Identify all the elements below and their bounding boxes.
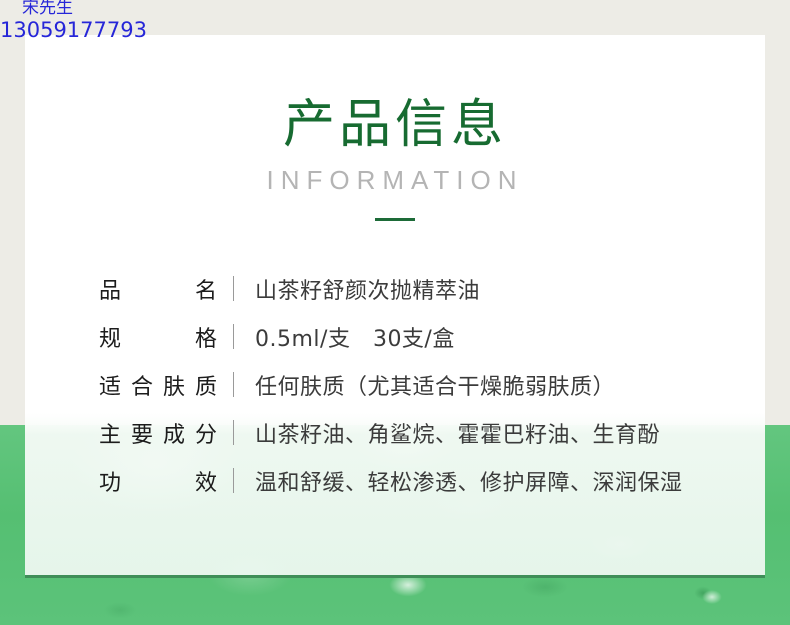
label-char: 效	[195, 465, 217, 497]
label-char: 格	[195, 321, 217, 353]
label-value-separator	[233, 276, 234, 301]
label-char: 功	[99, 465, 121, 497]
label-char: 要	[131, 417, 153, 449]
info-value: 0.5ml/支 30支/盒	[255, 321, 455, 353]
label-char: 品	[99, 273, 121, 305]
info-value: 山茶籽舒颜次抛精萃油	[255, 273, 480, 305]
watermark-name: 宋先生	[0, 0, 147, 17]
info-label: 品 名	[99, 273, 217, 305]
label-char: 名	[195, 273, 217, 305]
page-subtitle: INFORMATION	[25, 165, 765, 196]
label-char: 肤	[163, 369, 185, 401]
label-char: 主	[99, 417, 121, 449]
information-card: 产品信息 INFORMATION 品 名 山茶籽舒颜次抛精萃油 规 格 0.5m…	[25, 35, 765, 575]
info-label: 适 合 肤 质	[99, 369, 217, 401]
label-value-separator	[233, 372, 234, 397]
page-title: 产品信息	[25, 98, 765, 153]
title-divider	[375, 218, 415, 221]
label-char: 质	[195, 369, 217, 401]
info-label: 功 效	[99, 465, 217, 497]
info-label: 规 格	[99, 321, 217, 353]
label-char: 适	[99, 369, 121, 401]
label-char: 合	[131, 369, 153, 401]
table-row: 主 要 成 分 山茶籽油、角鲨烷、霍霍巴籽油、生育酚	[99, 409, 765, 457]
info-value: 山茶籽油、角鲨烷、霍霍巴籽油、生育酚	[255, 417, 660, 449]
table-row: 规 格 0.5ml/支 30支/盒	[99, 313, 765, 361]
label-value-separator	[233, 324, 234, 349]
info-label: 主 要 成 分	[99, 417, 217, 449]
info-value: 温和舒缓、轻松渗透、修护屏障、深润保湿	[255, 465, 683, 497]
table-row: 功 效 温和舒缓、轻松渗透、修护屏障、深润保湿	[99, 457, 765, 505]
product-info-table: 品 名 山茶籽舒颜次抛精萃油 规 格 0.5ml/支 30支/盒 适 合 肤	[25, 265, 765, 505]
label-char: 分	[195, 417, 217, 449]
product-info-page: 产品信息 INFORMATION 品 名 山茶籽舒颜次抛精萃油 规 格 0.5m…	[0, 0, 790, 625]
table-row: 适 合 肤 质 任何肤质（尤其适合干燥脆弱肤质）	[99, 361, 765, 409]
label-char: 规	[99, 321, 121, 353]
label-value-separator	[233, 468, 234, 493]
label-char: 成	[163, 417, 185, 449]
card-header: 产品信息 INFORMATION	[25, 35, 765, 221]
table-row: 品 名 山茶籽舒颜次抛精萃油	[99, 265, 765, 313]
label-value-separator	[233, 420, 234, 445]
info-value: 任何肤质（尤其适合干燥脆弱肤质）	[255, 369, 615, 401]
